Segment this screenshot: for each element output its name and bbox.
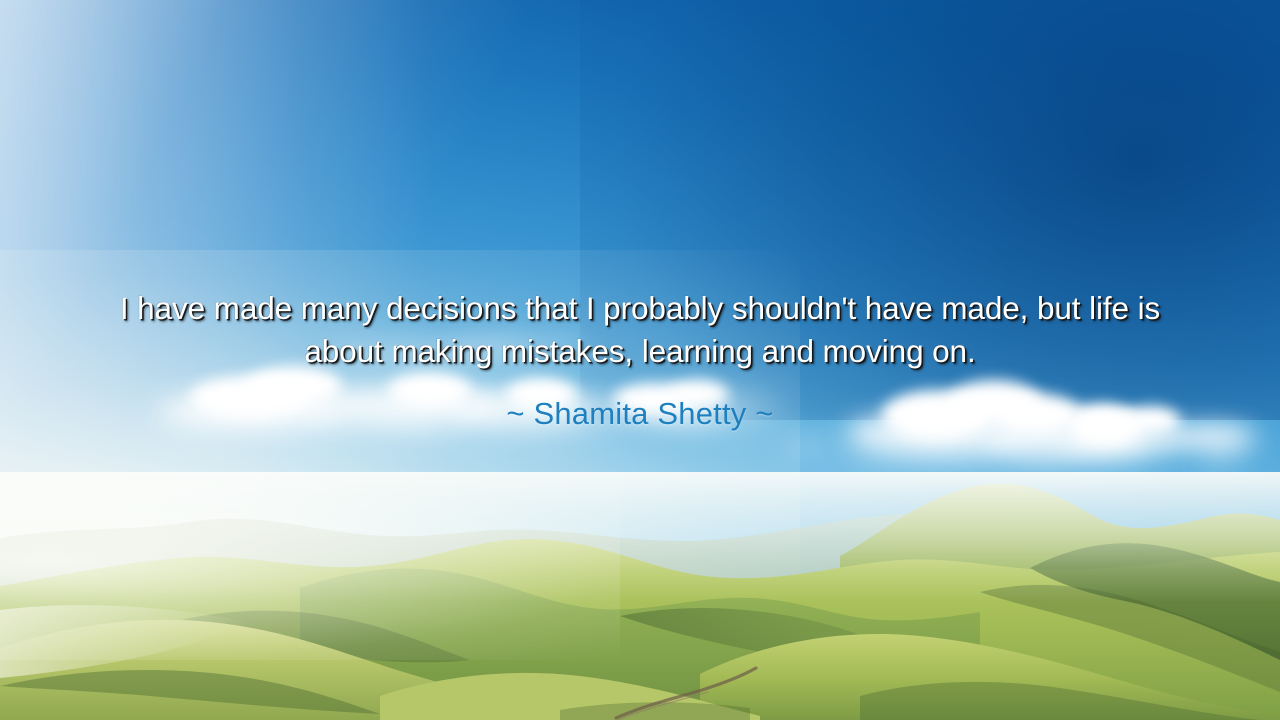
quote-author: ~ Shamita Shetty ~ [506,395,773,433]
quote-overlay: I have made many decisions that I probab… [0,0,1280,720]
quote-text: I have made many decisions that I probab… [100,287,1180,373]
quote-image: I have made many decisions that I probab… [0,0,1280,720]
